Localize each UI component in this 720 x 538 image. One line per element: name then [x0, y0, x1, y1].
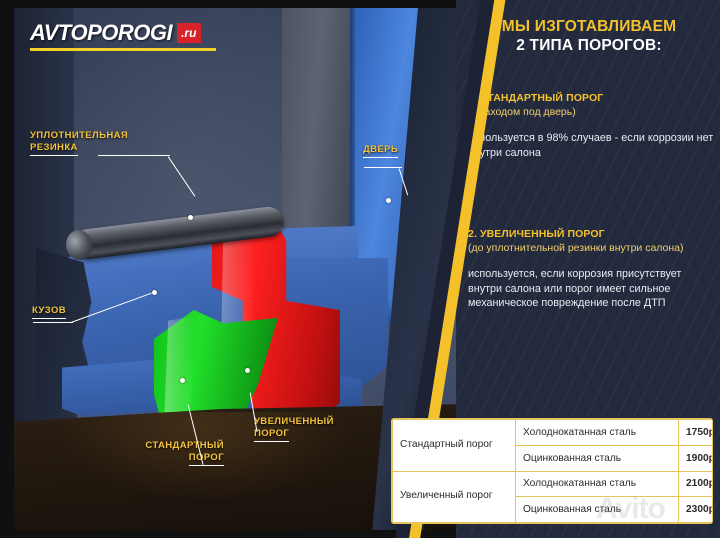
section-extended-title: 2. УВЕЛИЧЕННЫЙ ПОРОГ: [468, 228, 714, 242]
price-row-price: 2300р.: [679, 497, 714, 523]
price-row-price: 2100р.: [679, 471, 714, 497]
callout-body-label: КУЗОВ: [32, 305, 66, 319]
leader-seal-h: [98, 155, 170, 156]
price-row-price: 1750р.: [679, 420, 714, 446]
render-grey-panel: [282, 8, 354, 248]
price-row-price: 1900р.: [679, 445, 714, 471]
header-line-2: 2 ТИПА ПОРОГОВ:: [466, 36, 712, 55]
table-row: Стандартный порог Холоднокатанная сталь …: [393, 420, 714, 446]
callout-seal-line1: УПЛОТНИТЕЛЬНАЯ: [30, 130, 128, 141]
brand-logo: AVTOPOROGI .ru: [30, 20, 216, 51]
callout-standard-line1: СТАНДАРТНЫЙ: [145, 440, 224, 451]
callout-extended: УВЕЛИЧЕННЫЙ ПОРОГ: [254, 416, 364, 442]
leader-dot-body: [152, 290, 157, 295]
section-extended: 2. УВЕЛИЧЕННЫЙ ПОРОГ (до уплотнительной …: [468, 228, 714, 311]
section-standard-body: используется в 98% случаев - если корроз…: [468, 131, 714, 160]
logo-underline: [30, 48, 216, 51]
section-standard-title: 1. СТАНДАРТНЫЙ ПОРОГ: [468, 92, 714, 106]
price-row-name: Стандартный порог: [393, 420, 516, 472]
price-row-name: Увеличенный порог: [393, 471, 516, 523]
price-row-material: Оцинкованная сталь: [516, 497, 679, 523]
callout-seal-line2: РЕЗИНКА: [30, 142, 78, 156]
section-standard: 1. СТАНДАРТНЫЙ ПОРОГ (с заходом под двер…: [468, 92, 714, 160]
callout-standard-line2: ПОРОГ: [189, 452, 224, 466]
section-extended-subtitle: (до уплотнительной резинки внутри салона…: [468, 242, 714, 256]
price-row-material: Холоднокатанная сталь: [516, 420, 679, 446]
callout-extended-line1: УВЕЛИЧЕННЫЙ: [254, 416, 334, 427]
logo-wordmark: AVTOPOROGI: [30, 20, 172, 46]
header-line-1: МЫ ИЗГОТАВЛИВАЕМ: [466, 17, 712, 36]
infographic-root: УПЛОТНИТЕЛЬНАЯ РЕЗИНКА ДВЕРЬ КУЗОВ СТАНД…: [0, 0, 720, 538]
price-row-material: Оцинкованная сталь: [516, 445, 679, 471]
leader-dot-standard: [180, 378, 185, 383]
callout-extended-line2: ПОРОГ: [254, 428, 289, 442]
price-row-material: Холоднокатанная сталь: [516, 471, 679, 497]
panel-header: МЫ ИЗГОТАВЛИВАЕМ 2 ТИПА ПОРОГОВ:: [466, 17, 712, 55]
leader-dot-door: [386, 198, 391, 203]
leader-dot-extended: [245, 368, 250, 373]
logo-tld-badge: .ru: [177, 23, 201, 43]
leader-body-h: [33, 322, 73, 323]
leader-door-h: [364, 167, 402, 168]
callout-door: ДВЕРЬ: [363, 144, 423, 158]
section-standard-subtitle: (с заходом под дверь): [468, 106, 714, 120]
section-extended-body: используется, если коррозия присутствует…: [468, 267, 714, 311]
callout-seal: УПЛОТНИТЕЛЬНАЯ РЕЗИНКА: [30, 130, 180, 156]
price-table: Стандартный порог Холоднокатанная сталь …: [391, 418, 713, 524]
leader-dot-seal: [188, 215, 193, 220]
callout-door-label: ДВЕРЬ: [363, 144, 398, 158]
table-row: Увеличенный порог Холоднокатанная сталь …: [393, 471, 714, 497]
